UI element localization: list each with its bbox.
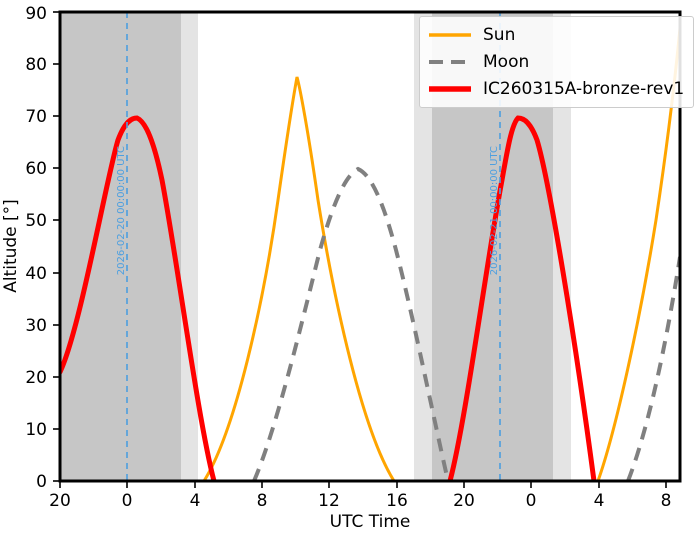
y-tick-label: 90 — [25, 4, 47, 24]
legend-entry-target[interactable]: IC260315A-bronze-rev1 — [428, 77, 684, 101]
x-tick-label: 8 — [257, 491, 268, 511]
y-tick-label: 70 — [25, 107, 47, 127]
x-tick-label: 4 — [190, 491, 201, 511]
y-tick-label: 0 — [36, 472, 47, 492]
legend-entry-moon[interactable]: Moon — [428, 50, 684, 74]
x-tick-label: 20 — [49, 491, 71, 511]
x-tick-label: 0 — [526, 491, 537, 511]
x-tick-label: 20 — [453, 491, 475, 511]
y-tick-label: 30 — [25, 316, 47, 336]
y-tick-label: 40 — [25, 264, 47, 284]
y-tick-label: 60 — [25, 159, 47, 179]
y-tick-label: 20 — [25, 368, 47, 388]
legend-swatch-moon-line — [428, 53, 472, 71]
x-tick-label: 4 — [594, 491, 605, 511]
y-tick-label: 80 — [25, 55, 47, 75]
y-axis-title: Altitude [°] — [1, 199, 21, 293]
sun-curve-day1 — [204, 77, 394, 481]
y-axis-tick-labels: 0 10 20 30 40 50 60 70 80 90 — [25, 4, 47, 492]
y-tick-label: 50 — [25, 211, 47, 231]
x-tick-label: 12 — [318, 491, 340, 511]
legend-swatch-target-line — [428, 80, 472, 98]
x-axis-tick-labels: 20 0 4 8 12 16 20 0 4 8 — [49, 491, 671, 511]
moon-curve-night2 — [628, 257, 680, 481]
legend-label-moon: Moon — [483, 53, 529, 71]
legend-label-target: IC260315A-bronze-rev1 — [483, 80, 684, 98]
legend-swatch-sun-line — [428, 26, 472, 44]
altitude-chart-figure: 0 10 20 30 40 50 60 70 80 90 Altitude [°… — [0, 0, 694, 533]
vertical-line-label: 2026-02-20 00:00:00 UTC — [116, 146, 127, 275]
x-tick-label: 16 — [386, 491, 408, 511]
x-tick-label: 8 — [661, 491, 672, 511]
x-tick-label: 0 — [122, 491, 133, 511]
y-tick-label: 10 — [25, 420, 47, 440]
vertical-line-label: 2026-02-21 00:00:00 UTC — [489, 146, 500, 275]
legend-label-sun: Sun — [483, 26, 515, 44]
x-axis-title: UTC Time — [330, 512, 411, 532]
twilight-band — [181, 12, 198, 481]
legend-entry-sun[interactable]: Sun — [428, 23, 684, 47]
chart-legend: Sun Moon IC260315A-bronze-rev1 — [419, 16, 694, 108]
